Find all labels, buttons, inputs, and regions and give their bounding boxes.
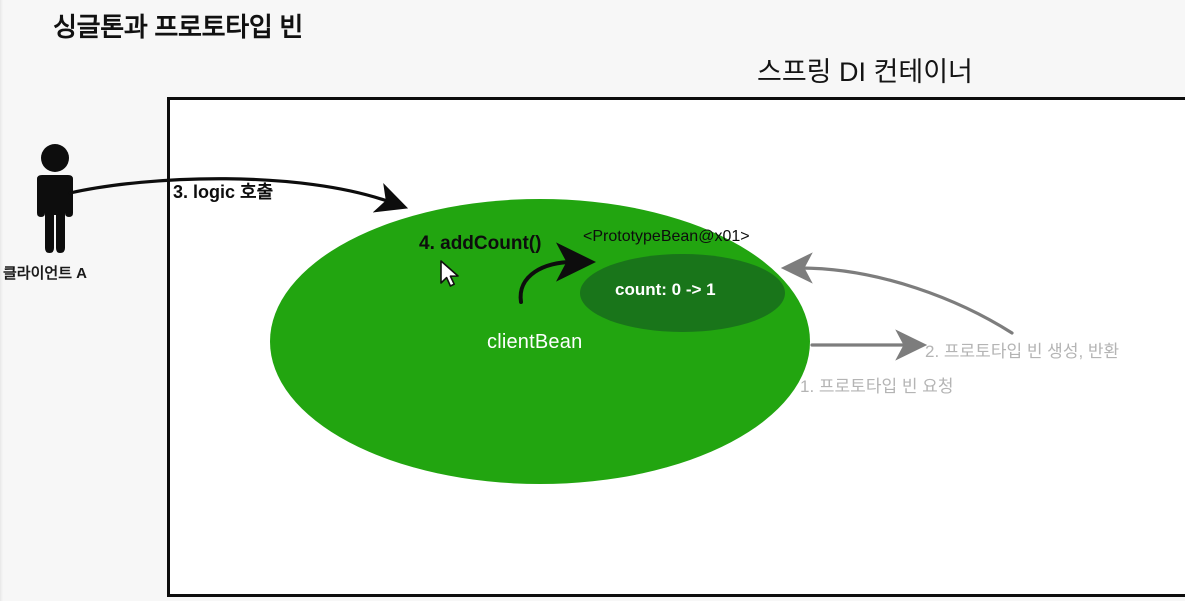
di-container-title: 스프링 DI 컨테이너 [757,50,973,89]
client-label: 클라이언트 A [3,262,87,283]
prototype-bean-count: count: 0 -> 1 [615,280,716,300]
client-bean-label: clientBean [487,331,582,354]
step-2-label: 2. 프로토타입 빈 생성, 반환 [925,337,1119,362]
page-title: 싱글톤과 프로토타입 빈 [53,7,303,44]
person-icon [27,143,83,255]
step-4-label: 4. addCount() [419,233,541,255]
slide-canvas: 싱글톤과 프로토타입 빈 스프링 DI 컨테이너 클라이언트 A clientB… [0,0,1185,601]
prototype-bean-type-label: <PrototypeBean@x01> [583,228,750,246]
step-3-label: 3. logic 호출 [173,178,273,204]
step-1-label: 1. 프로토타입 빈 요청 [800,372,953,397]
